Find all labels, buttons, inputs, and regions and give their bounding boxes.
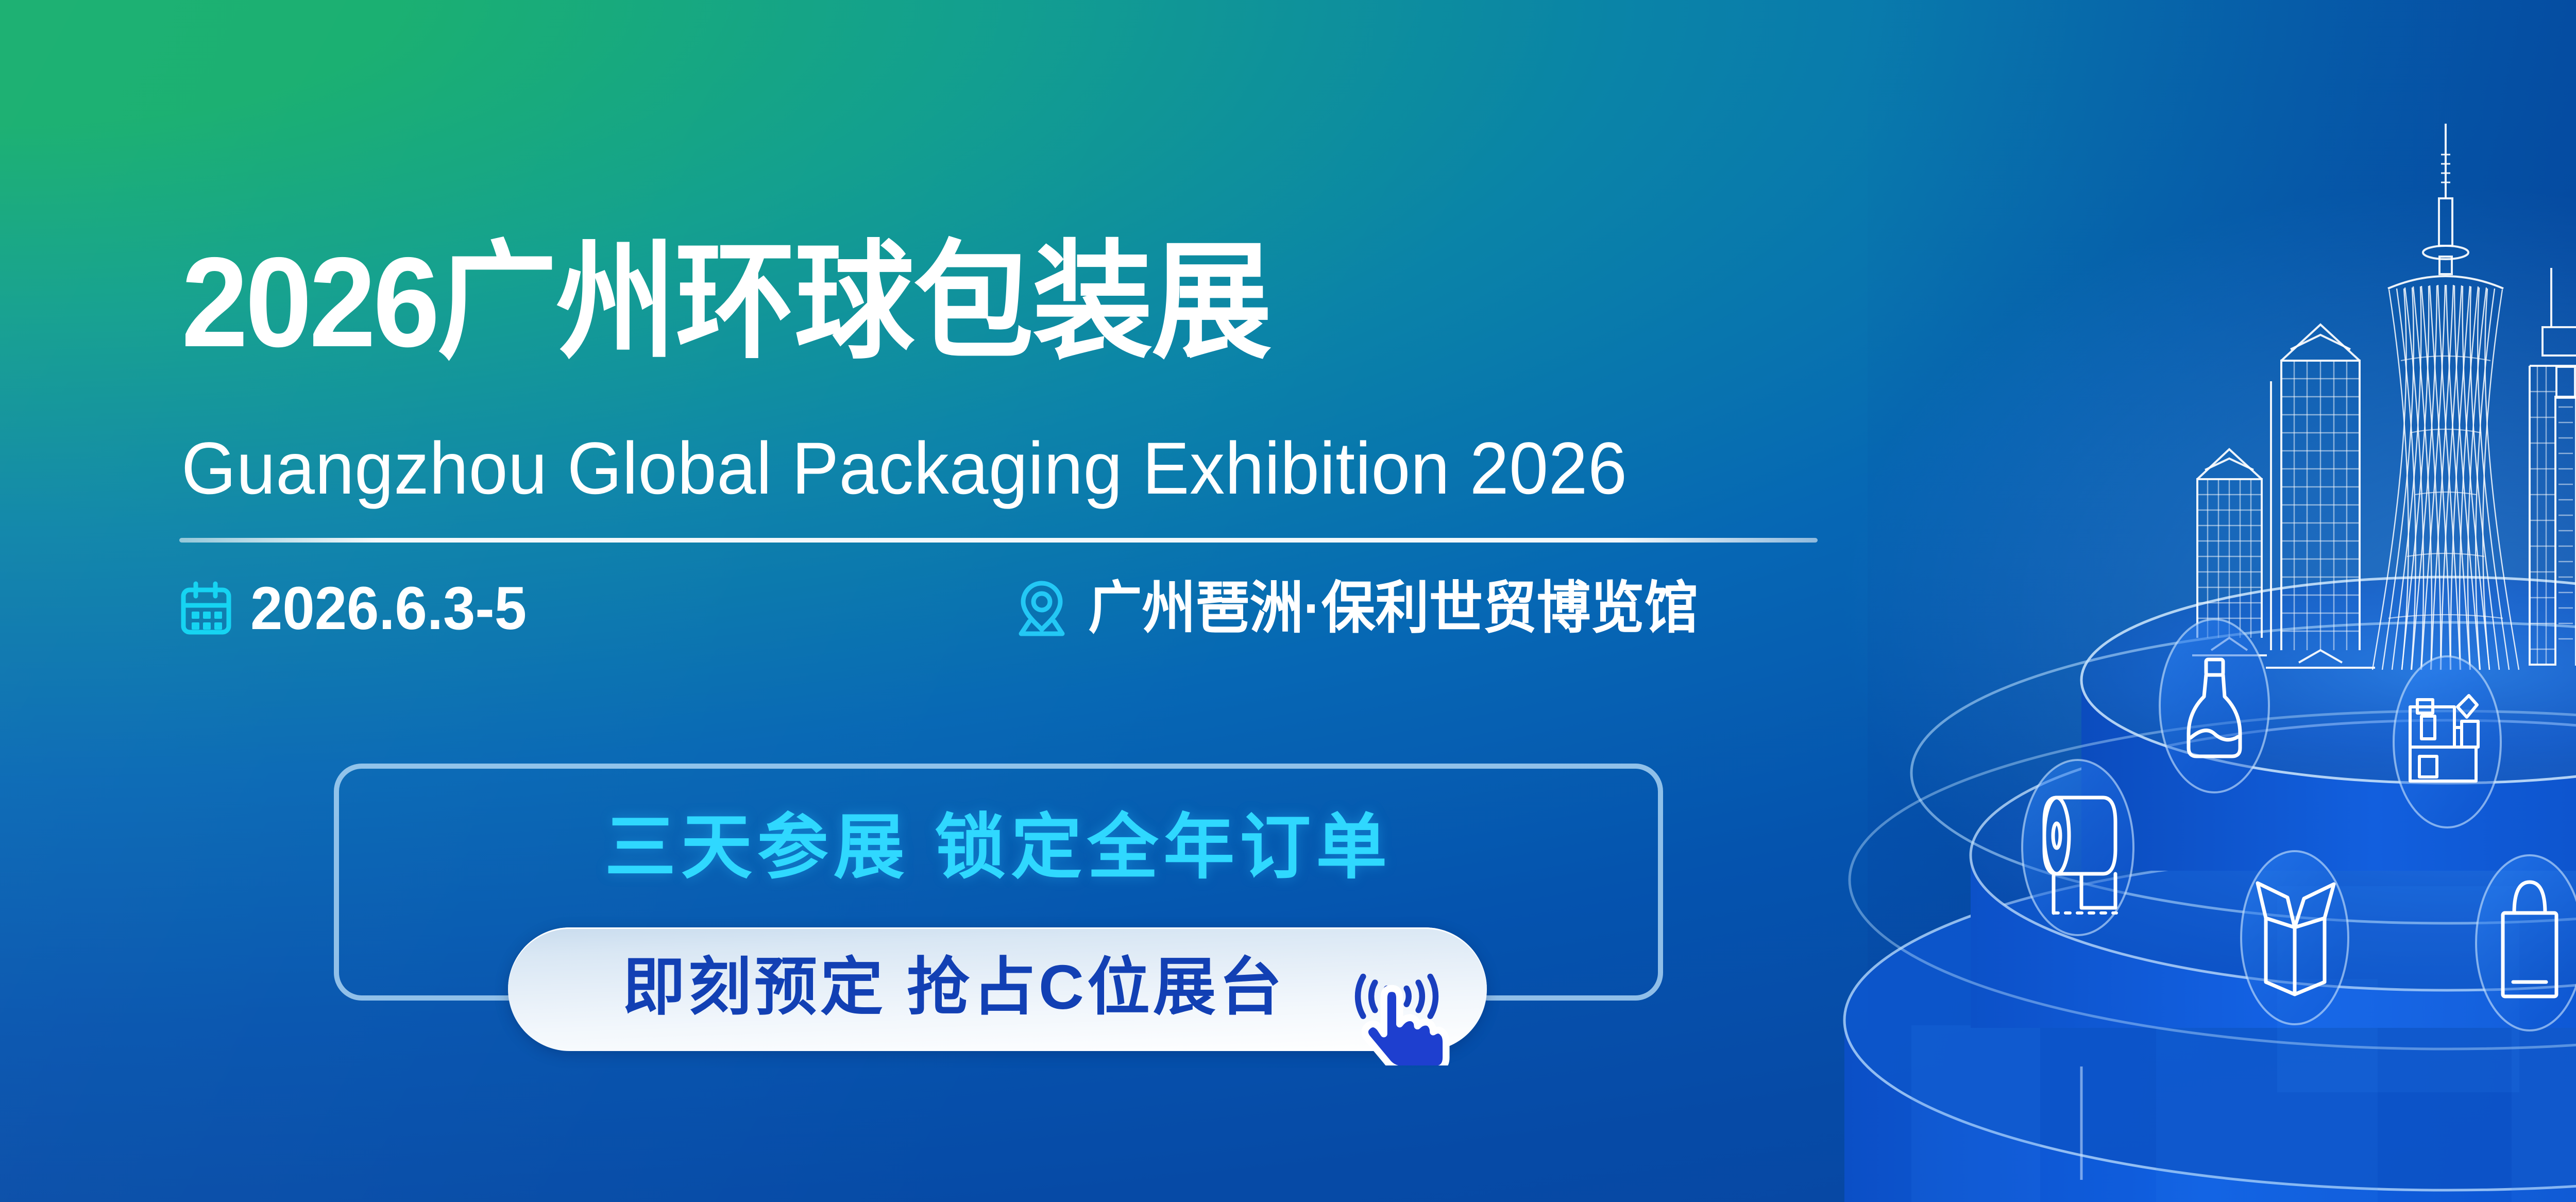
title-chinese: 广州环球包装展 [437,230,1271,374]
paper-roll-icon [2022,760,2133,935]
printing-machine-icon [2394,656,2501,827]
page-title: 2026广州环球包装展 [181,238,1271,366]
event-date-text: 2026.6.3-5 [250,578,527,639]
event-venue: 广州琶洲·保利世贸博览馆 [1013,578,1731,639]
calendar-icon [179,581,233,636]
title-divider [179,538,1818,543]
office-tower-left [2266,325,2375,668]
title-year: 2026 [181,230,437,374]
banner-content: 2026广州环球包装展 Guangzhou Global Packaging E… [0,0,1906,1202]
event-meta-row: 2026.6.3-5 广州琶洲·保利世贸博览馆 [179,578,1828,666]
location-pin-icon [1013,578,1071,639]
exhibition-banner: 2026广州环球包装展 Guangzhou Global Packaging E… [0,0,2576,1202]
cta-label: 即刻预定 抢占C位展台 [622,956,1285,1019]
carton-box-icon [2241,851,2348,1024]
slogan-text: 三天参展 锁定全年订单 [334,764,1663,918]
shopping-bag-icon [2476,855,2576,1030]
bottle-icon [2160,619,2269,792]
hand-tap-cursor-icon [1337,947,1456,1065]
book-booth-button[interactable]: 即刻预定 抢占C位展台 [508,927,1487,1051]
event-venue-text: 广州琶洲·保利世贸博览馆 [1088,580,1698,637]
title-english: Guangzhou Global Packaging Exhibition 20… [181,432,1627,505]
event-date: 2026.6.3-5 [179,578,541,639]
